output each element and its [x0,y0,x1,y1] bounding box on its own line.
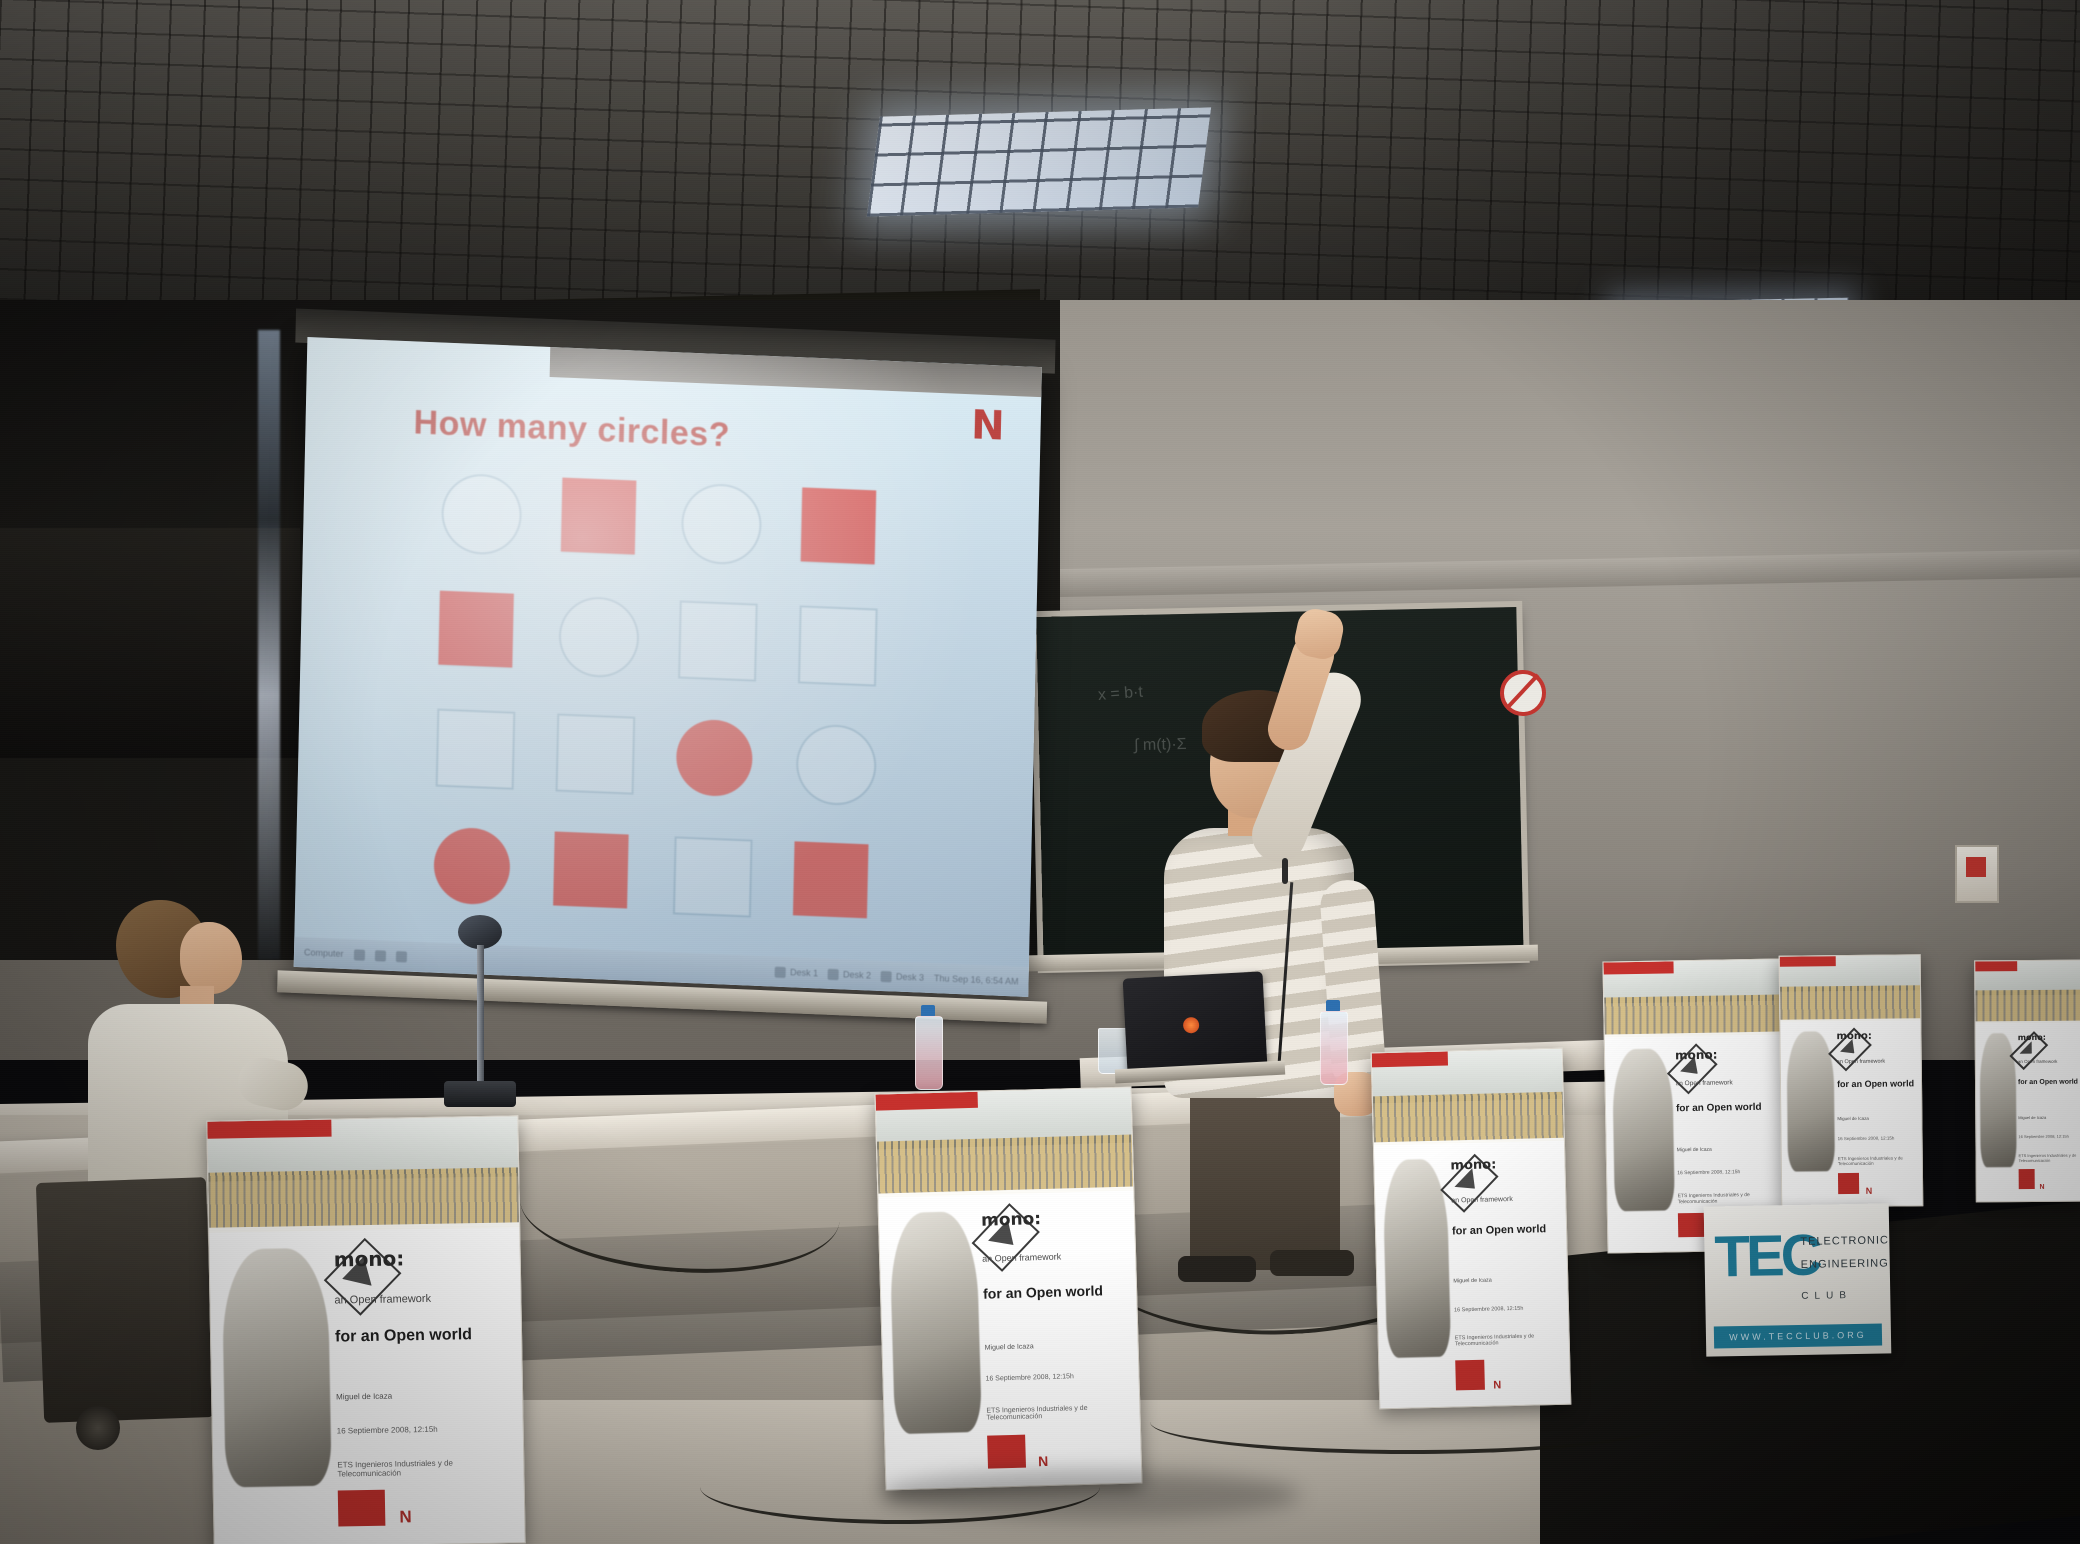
banner-title: mono: [2018,1033,2079,1042]
window-glass-strip [258,330,280,960]
banner-date: 16 Septiembre 2008, 12:15h [1838,1135,1919,1141]
lecture-hall-photo: x = b·t ∫ m(t)·Σ How many circles? N [0,0,2080,1544]
event-banner: mono: an Open framework for an Open worl… [1779,954,1924,1207]
banner-headline: for an Open world [335,1325,515,1346]
david-statue-image [1612,1048,1674,1211]
banner-headline: for an Open world [1837,1078,1918,1089]
tec-word-2: ENGINEERING [1801,1252,1890,1277]
projection-screen: How many circles? N [294,337,1042,997]
banner-speaker: Miguel de Icaza [2018,1114,2079,1119]
banner-title: mono: [981,1206,1129,1230]
floor-shadow [880,1470,1300,1520]
novell-n-logo-icon: N [399,1507,412,1527]
lapel-microphone-icon [1282,858,1288,884]
microphone-stand [440,915,520,1115]
banner-title: mono: [1675,1047,1777,1063]
laptop[interactable] [1125,975,1265,1070]
tec-words: TELECTRONIC ENGINEERING [1800,1229,1889,1277]
banner-title: mono: [1836,1030,1917,1042]
banner-headline: for an Open world [2018,1078,2079,1085]
novell-n-logo-icon: N [1038,1453,1049,1469]
chair-wheel [76,1406,120,1450]
event-banner: mono: an Open framework for an Open worl… [875,1086,1143,1490]
dark-left-band [0,528,300,758]
microphone-rod [477,945,484,1085]
tec-word-3: CLUB [1801,1290,1852,1302]
david-statue-image [889,1210,982,1434]
event-banner: mono: an Open framework for an Open worl… [1371,1048,1572,1410]
david-statue-image [222,1247,332,1487]
novell-n-logo-icon: N [2039,1184,2044,1191]
screen-vignette [294,337,1042,997]
projection-screen-assembly: How many circles? N [293,337,1042,1027]
banner-title: mono: [1450,1155,1561,1173]
chalk-note: x = b·t [1097,684,1143,705]
banner-subtitle: an Open framework [1837,1058,1918,1065]
event-banner: mono: an Open framework for an Open worl… [1974,960,2080,1203]
banner-subtitle: an Open framework [2018,1059,2079,1064]
office-chair [36,1177,214,1423]
attendee-face [180,922,242,994]
banner-headline: for an Open world [1676,1102,1778,1115]
banner-date: 16 Septiembre 2008, 12:15h [2018,1133,2079,1138]
novell-n-logo-icon: N [1866,1186,1873,1196]
banner-speaker: Miguel de Icaza [1837,1115,1918,1121]
microphone-base [444,1081,516,1107]
laptop-lid [1123,971,1268,1073]
fire-alarm-icon [1955,845,1999,903]
microphone-icon [458,915,502,949]
novell-n-logo-icon: N [1493,1379,1501,1391]
tec-club-sign: TEC TELECTRONIC ENGINEERING CLUB WWW.TEC… [1704,1203,1892,1356]
ceiling-lamp-icon [867,107,1211,216]
tec-footer: WWW.TECCLUB.ORG [1714,1324,1882,1349]
event-banner: mono: an Open framework for an Open worl… [206,1115,525,1544]
tec-word-1: TELECTRONIC [1800,1229,1889,1254]
banner-title: mono: [334,1244,514,1271]
ceiling-shadow-right [1150,0,2080,330]
laptop-logo-icon [1183,1017,1200,1034]
